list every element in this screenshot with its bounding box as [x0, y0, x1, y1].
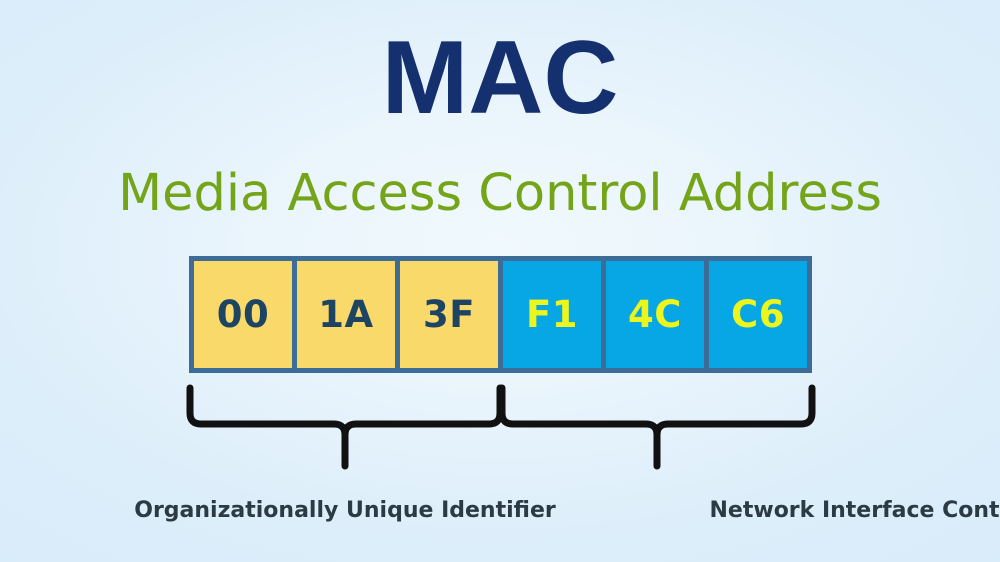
byte-cell-1: 1A [297, 261, 395, 368]
page-subtitle: Media Access Control Address [0, 166, 1000, 222]
brace-oui-icon [190, 388, 500, 466]
mac-byte-row: 00 1A 3F F1 4C C6 [189, 256, 812, 373]
byte-cell-3: F1 [503, 261, 601, 368]
byte-cell-5: C6 [709, 261, 807, 368]
group-label-nic: Network Interface Controller Specific [410, 498, 1000, 523]
mac-address-diagram: MAC Media Access Control Address 00 1A 3… [0, 0, 1000, 562]
byte-cell-2: 3F [400, 261, 498, 368]
brace-nic-icon [502, 388, 812, 466]
byte-cell-4: 4C [606, 261, 704, 368]
byte-cell-0: 00 [194, 261, 292, 368]
page-title: MAC [0, 26, 1000, 130]
